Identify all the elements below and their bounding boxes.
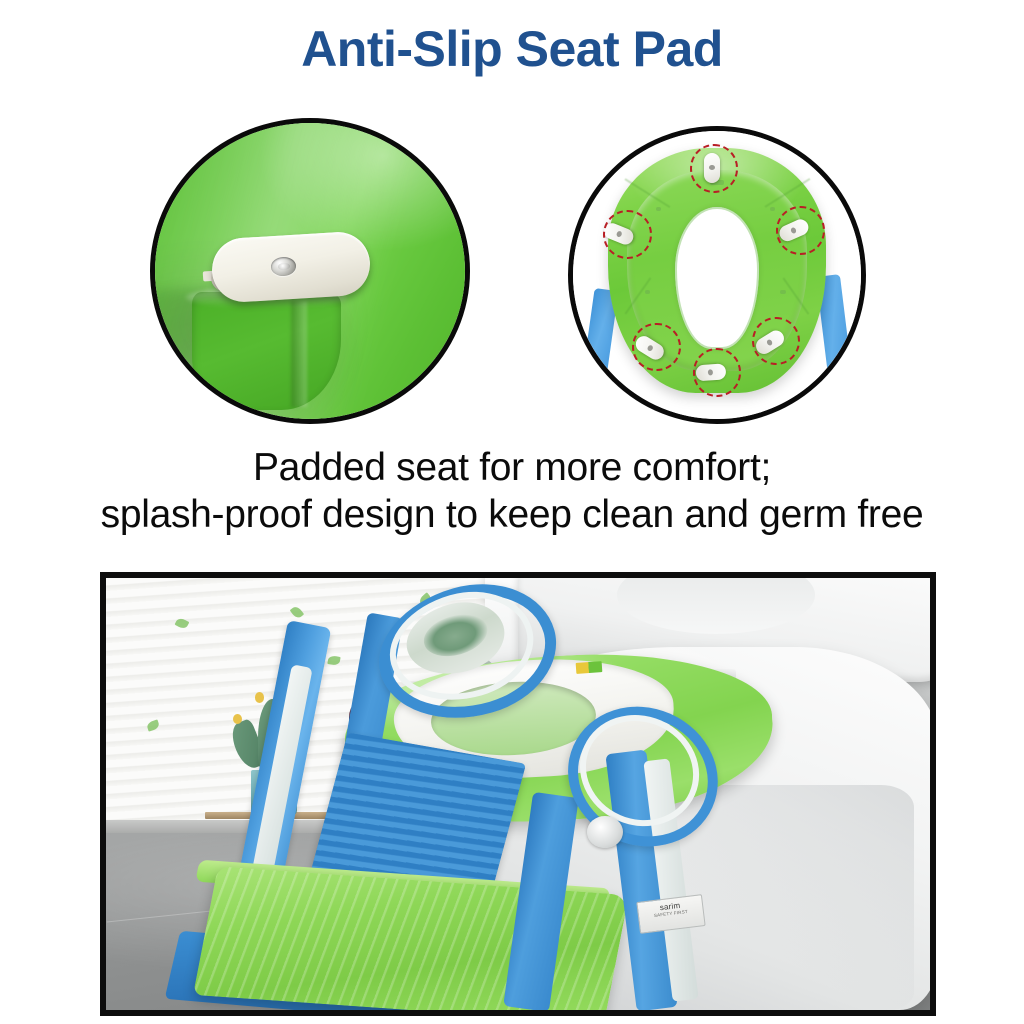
seat-underside-image: [573, 131, 861, 419]
highlight-ring-top: [690, 144, 739, 193]
screw-boss: [780, 290, 785, 294]
seat-recess-pocket: [192, 292, 341, 410]
seat-opening: [675, 207, 758, 349]
caption-line-2: splash-proof design to keep clean and ge…: [0, 491, 1024, 538]
feature-caption: Padded seat for more comfort; splash-pro…: [0, 444, 1024, 538]
product-lifestyle-photo: sarim SAFETY FIRST: [100, 572, 936, 1016]
inset-seat-underside-overview: [568, 126, 866, 424]
page-title: Anti-Slip Seat Pad: [0, 20, 1024, 78]
screw-boss: [770, 207, 775, 211]
pad-closeup-image: [155, 123, 465, 419]
screw-boss: [645, 290, 650, 294]
highlight-ring-right: [776, 206, 825, 255]
cactus-flower: [255, 692, 264, 702]
plastic-rib: [291, 301, 307, 408]
highlight-ring-left: [603, 210, 652, 259]
inset-circles-row: [0, 112, 1024, 422]
highlight-ring-bottom-left: [632, 323, 681, 372]
caption-line-1: Padded seat for more comfort;: [0, 444, 1024, 491]
highlight-ring-bottom: [693, 348, 742, 397]
inset-anti-slip-pad-closeup: [150, 118, 470, 424]
screw-boss: [656, 207, 661, 211]
